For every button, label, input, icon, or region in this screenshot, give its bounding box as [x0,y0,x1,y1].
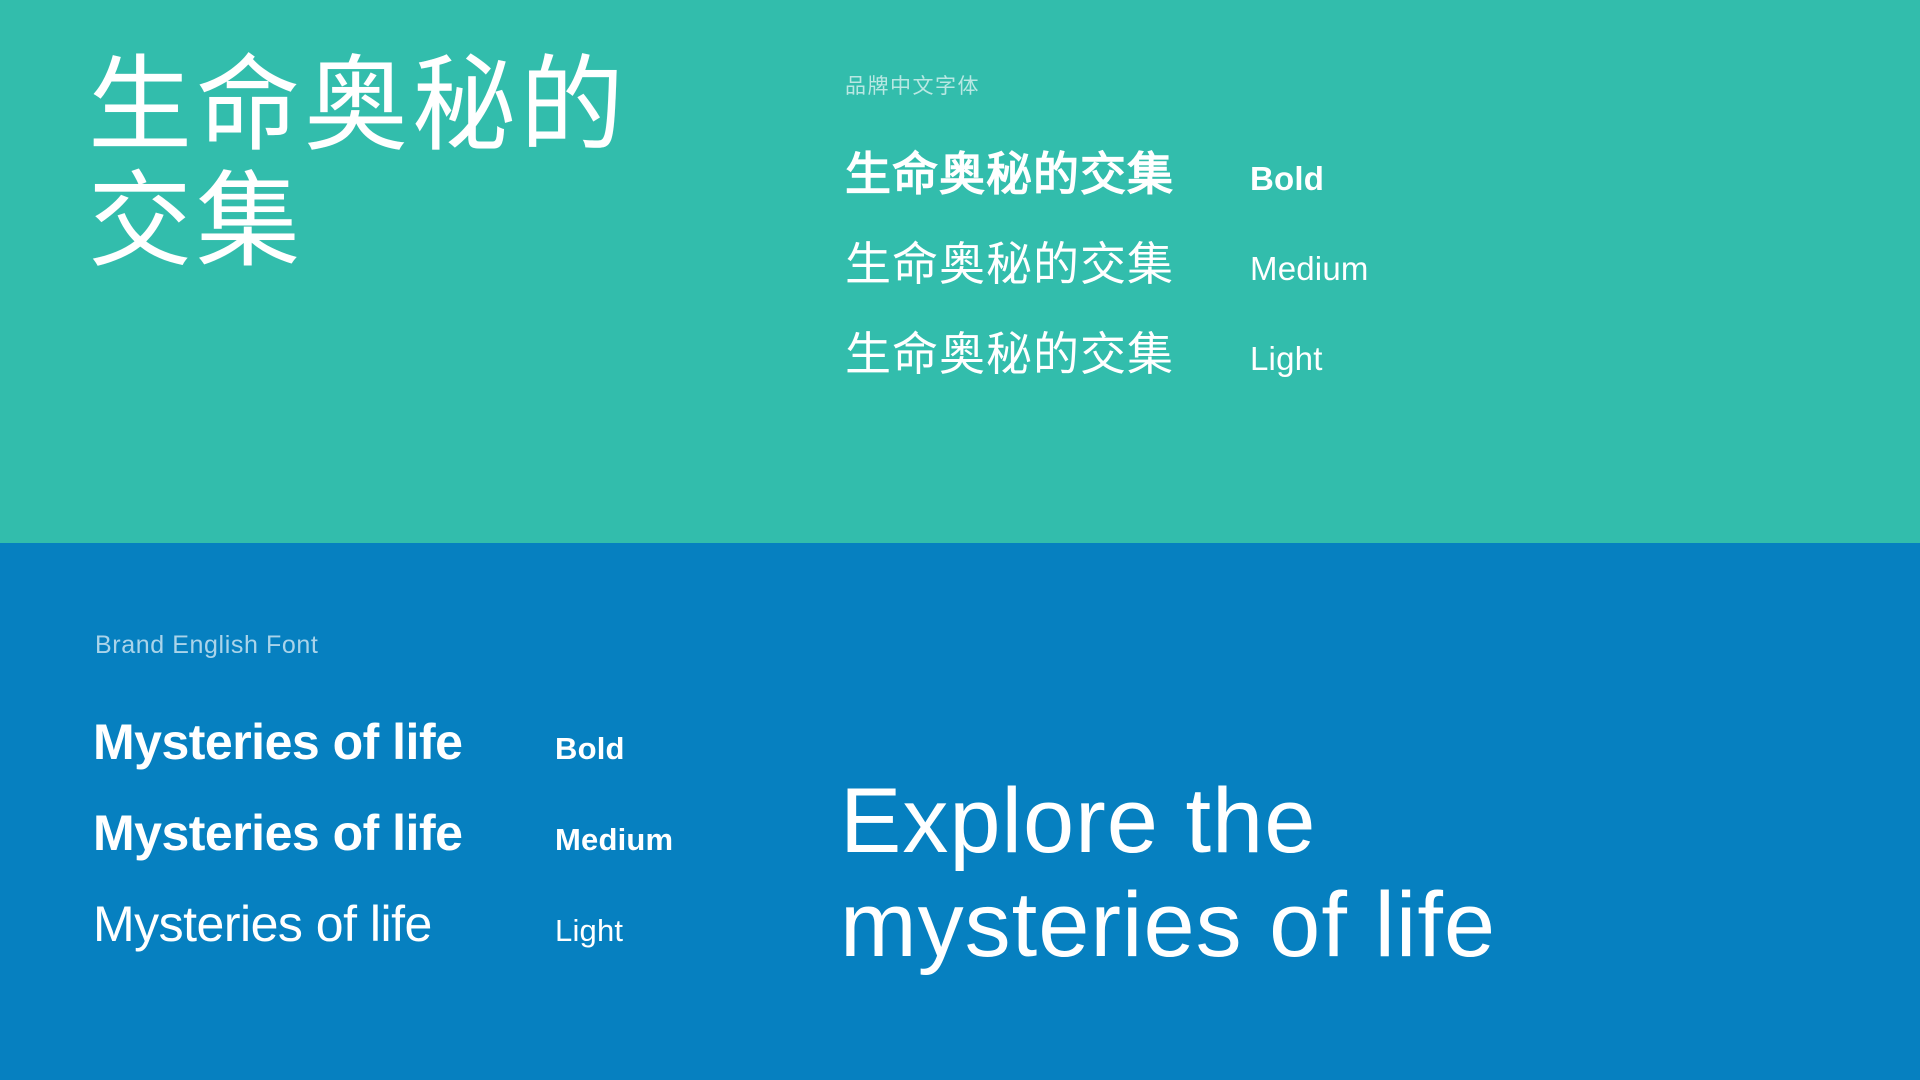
specimen-row: Mysteries of life Medium [93,804,893,895]
english-weight-label-bold: Bold [555,731,625,767]
brand-typography-specimen: 生命奥秘的 交集 品牌中文字体 生命奥秘的交集 Bold 生命奥秘的交集 Med… [0,0,1920,1080]
chinese-section-caption: 品牌中文字体 [845,70,980,100]
specimen-row: Mysteries of life Bold [93,713,893,804]
english-sample-light: Mysteries of life [93,895,555,953]
chinese-hero-line-1: 生命奥秘的 [88,48,708,164]
chinese-weight-label-bold: Bold [1250,160,1324,198]
specimen-row: 生命奥秘的交集 Medium [845,228,1845,318]
chinese-hero-line-2: 交集 [88,164,708,280]
chinese-hero-display: 生命奥秘的 交集 [88,48,708,281]
chinese-font-section: 生命奥秘的 交集 品牌中文字体 生命奥秘的交集 Bold 生命奥秘的交集 Med… [0,0,1920,543]
english-sample-medium: Mysteries of life [93,804,555,862]
specimen-row: 生命奥秘的交集 Light [845,318,1845,408]
english-hero-display: Explore the mysteries of life [840,770,1900,978]
english-font-section: Brand English Font Mysteries of life Bol… [0,543,1920,1080]
chinese-weight-label-light: Light [1250,340,1323,378]
specimen-row: Mysteries of life Light [93,895,893,986]
specimen-row: 生命奥秘的交集 Bold [845,138,1845,228]
english-specimen-list: Mysteries of life Bold Mysteries of life… [93,713,893,986]
chinese-weight-label-medium: Medium [1250,250,1369,288]
english-sample-bold: Mysteries of life [93,713,555,771]
chinese-sample-bold: 生命奥秘的交集 [845,138,1250,204]
chinese-specimen-list: 生命奥秘的交集 Bold 生命奥秘的交集 Medium 生命奥秘的交集 Ligh… [845,138,1845,408]
chinese-sample-light: 生命奥秘的交集 [845,318,1250,384]
english-hero-line-1: Explore the [840,770,1900,874]
english-weight-label-light: Light [555,913,623,949]
english-section-caption: Brand English Font [95,631,318,660]
english-weight-label-medium: Medium [555,822,673,858]
english-hero-line-2: mysteries of life [840,874,1900,978]
chinese-sample-medium: 生命奥秘的交集 [845,228,1250,294]
